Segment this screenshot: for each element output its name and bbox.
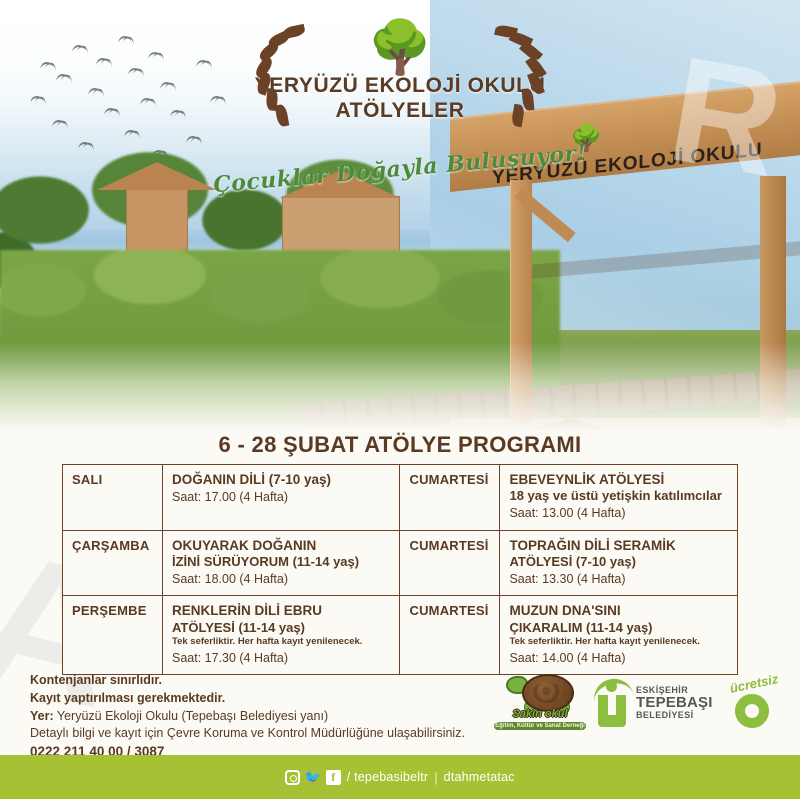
footer-location-value: Yeryüzü Ekoloji Okulu (Tepebaşı Belediye… (57, 709, 328, 723)
workshop-name: MUZUN DNA'SINI (509, 603, 728, 619)
table-row: SALI DOĞANIN DİLİ (7-10 yaş) Saat: 17.00… (63, 465, 738, 531)
brand-logo: 🌳 YERYÜZÜ EKOLOJİ OKULU ATÖLYELER Çocukl… (0, 22, 800, 182)
tepebasi-mark-icon (592, 679, 632, 727)
footer-location-label: Yer: (30, 709, 54, 723)
footer: Kontenjanlar sınırlıdır. Kayıt yaptırılm… (0, 672, 800, 752)
workshop-name: EBEVEYNLİK ATÖLYESİ (509, 472, 728, 488)
footer-line-capacity: Kontenjanlar sınırlıdır. (30, 672, 465, 690)
facebook-icon[interactable]: f (326, 770, 341, 785)
logo-sakin-okul: Sakin okul Eğitim, Kültür ve Sanat Derne… (494, 670, 586, 732)
tepebasi-line2: TEPEBAŞI (636, 695, 713, 711)
tepebasi-wordmark: ESKİŞEHİR TEPEBAŞI BELEDİYESİ (636, 686, 713, 721)
tepebasi-dot-icon (606, 681, 617, 692)
logo-sakin-sub: Eğitim, Kültür ve Sanat Derneği (494, 722, 586, 730)
cell-day-left: PERŞEMBE (63, 596, 163, 675)
program-title: 6 - 28 ŞUBAT ATÖLYE PROGRAMI (0, 432, 800, 458)
logo-ucretsiz: ücretsiz (720, 674, 786, 732)
workshop-time: Saat: 13.30 (4 Hafta) (509, 571, 728, 587)
cell-workshop-left: DOĞANIN DİLİ (7-10 yaş) Saat: 17.00 (4 H… (162, 465, 400, 531)
laurel-leaf-icon (511, 104, 526, 128)
logo-sakin-name: Sakin okul (496, 708, 584, 720)
social-handle-main[interactable]: / tepebasibeltr (347, 770, 429, 784)
cell-day-left: SALI (63, 465, 163, 531)
footer-line-location: Yer: Yeryüzü Ekoloji Okulu (Tepebaşı Bel… (30, 708, 465, 726)
twitter-icon[interactable]: 🐦 (304, 770, 321, 785)
workshop-time: Saat: 13.00 (4 Hafta) (509, 505, 728, 521)
workshop-note: Tek seferliktir. Her hafta kayıt yenilen… (172, 636, 391, 648)
workshop-name: OKUYARAK DOĞANIN (172, 538, 391, 554)
tepebasi-line3: BELEDİYESİ (636, 711, 713, 720)
workshop-subtitle: ATÖLYESİ (7-10 yaş) (509, 554, 728, 570)
cell-day-right: CUMARTESİ (400, 530, 500, 596)
table-row: ÇARŞAMBA OKUYARAK DOĞANIN İZİNİ SÜRÜYORU… (63, 530, 738, 596)
workshop-subtitle: 18 yaş ve üstü yetişkin katılımcılar (509, 488, 728, 504)
footer-line-registration: Kayıt yaptırılması gerekmektedir. (30, 690, 465, 708)
tepebasi-u-icon (598, 695, 626, 727)
program-table-wrapper: SALI DOĞANIN DİLİ (7-10 yaş) Saat: 17.00… (62, 464, 738, 675)
photo-fade-out (0, 342, 800, 432)
workshop-time: Saat: 14.00 (4 Hafta) (509, 650, 728, 666)
cell-day-left: ÇARŞAMBA (63, 530, 163, 596)
program-table: SALI DOĞANIN DİLİ (7-10 yaş) Saat: 17.00… (62, 464, 738, 675)
workshop-time: Saat: 17.30 (4 Hafta) (172, 650, 391, 666)
workshop-time: Saat: 18.00 (4 Hafta) (172, 571, 391, 587)
instagram-icon[interactable] (285, 770, 300, 785)
poster-root: 🌳 YERYÜZÜ EKOLOJİ OKULU R V A (0, 0, 800, 799)
turtle-shell-icon (522, 674, 574, 712)
workshop-name: RENKLERİN DİLİ EBRU (172, 603, 391, 619)
cell-workshop-right: TOPRAĞIN DİLİ SERAMİK ATÖLYESİ (7-10 yaş… (500, 530, 738, 596)
workshop-name: DOĞANIN DİLİ (7-10 yaş) (172, 472, 391, 488)
social-separator: | (434, 770, 437, 785)
cell-day-right: CUMARTESİ (400, 465, 500, 531)
ucretsiz-ring-icon (735, 694, 769, 728)
footer-info-text: Kontenjanlar sınırlıdır. Kayıt yaptırılm… (30, 672, 465, 759)
workshop-time: Saat: 17.00 (4 Hafta) (172, 489, 391, 505)
workshop-name: TOPRAĞIN DİLİ SERAMİK (509, 538, 728, 554)
workshop-subtitle: İZİNİ SÜRÜYORUM (11-14 yaş) (172, 554, 391, 570)
gate-beam-shadow (510, 241, 800, 280)
cell-workshop-left: RENKLERİN DİLİ EBRU ATÖLYESİ (11-14 yaş)… (162, 596, 400, 675)
footer-line-contact: Detaylı bilgi ve kayıt için Çevre Koruma… (30, 725, 465, 743)
workshop-subtitle: ÇIKARALIM (11-14 yaş) (509, 620, 728, 636)
workshop-note: Tek seferliktir. Her hafta kayıt yenilen… (509, 636, 728, 648)
laurel-wreath: 🌳 YERYÜZÜ EKOLOJİ OKULU ATÖLYELER (235, 22, 565, 152)
social-handle-second[interactable]: dtahmetatac (444, 770, 515, 784)
logo-tepebasi-belediyesi: ESKİŞEHİR TEPEBAŞI BELEDİYESİ (592, 674, 714, 732)
workshop-subtitle: ATÖLYESİ (11-14 yaş) (172, 620, 391, 636)
cell-workshop-right: EBEVEYNLİK ATÖLYESİ 18 yaş ve üstü yetiş… (500, 465, 738, 531)
table-row: PERŞEMBE RENKLERİN DİLİ EBRU ATÖLYESİ (1… (63, 596, 738, 675)
logo-title-line1: YERYÜZÜ EKOLOJİ OKULU (235, 74, 565, 99)
partner-logos: Sakin okul Eğitim, Kültür ve Sanat Derne… (494, 670, 786, 732)
cell-workshop-right: MUZUN DNA'SINI ÇIKARALIM (11-14 yaş) Tek… (500, 596, 738, 675)
social-icons: 🐦 f (285, 770, 340, 785)
cell-day-right: CUMARTESİ (400, 596, 500, 675)
social-bar: 🐦 f / tepebasibeltr | dtahmetatac (0, 755, 800, 799)
cell-workshop-left: OKUYARAK DOĞANIN İZİNİ SÜRÜYORUM (11-14 … (162, 530, 400, 596)
